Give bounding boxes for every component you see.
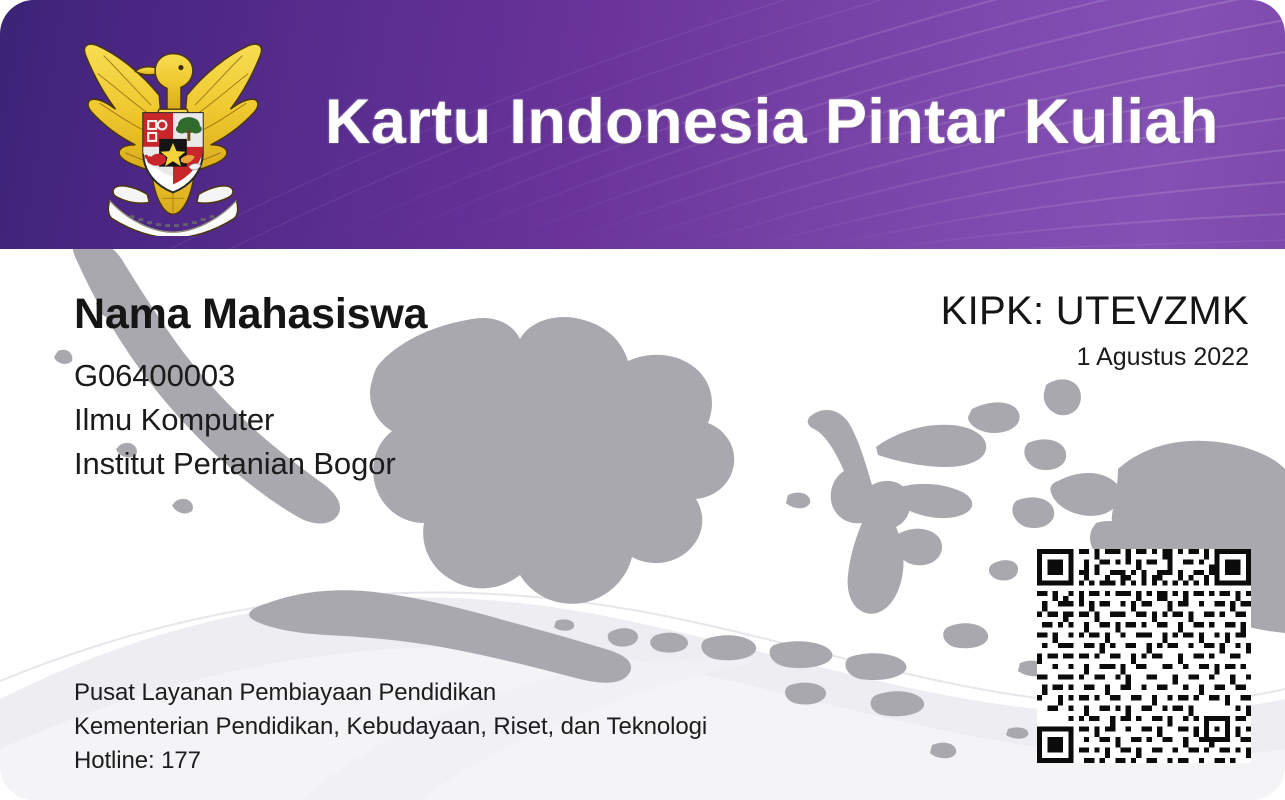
card-body: Nama Mahasiswa G06400003 Ilmu Komputer I… <box>0 249 1285 800</box>
footer-line-ministry: Kementerian Pendidikan, Kebudayaan, Rise… <box>74 710 707 744</box>
student-institution: Institut Pertanian Bogor <box>74 442 427 486</box>
kipk-code-block: KIPK: UTEVZMK 1 Agustus 2022 <box>941 291 1249 370</box>
kipk-issue-date: 1 Agustus 2022 <box>941 345 1249 370</box>
student-id-number: G06400003 <box>74 354 427 398</box>
card-title: Kartu Indonesia Pintar Kuliah <box>325 86 1219 158</box>
student-info-block: Nama Mahasiswa G06400003 Ilmu Komputer I… <box>74 293 427 486</box>
kipk-code: KIPK: UTEVZMK <box>941 291 1249 331</box>
card-footer-block: Pusat Layanan Pembiayaan Pendidikan Keme… <box>74 676 707 778</box>
kipk-card: Kartu Indonesia Pintar Kuliah <box>0 0 1285 800</box>
student-name: Nama Mahasiswa <box>74 293 427 336</box>
qr-code[interactable] <box>1037 549 1251 763</box>
garuda-pancasila-emblem <box>64 18 282 236</box>
student-study-program: Ilmu Komputer <box>74 398 427 442</box>
footer-line-agency: Pusat Layanan Pembiayaan Pendidikan <box>74 676 707 710</box>
qr-code-matrix <box>1037 549 1251 763</box>
card-header: Kartu Indonesia Pintar Kuliah <box>0 0 1285 249</box>
footer-line-hotline: Hotline: 177 <box>74 744 707 778</box>
